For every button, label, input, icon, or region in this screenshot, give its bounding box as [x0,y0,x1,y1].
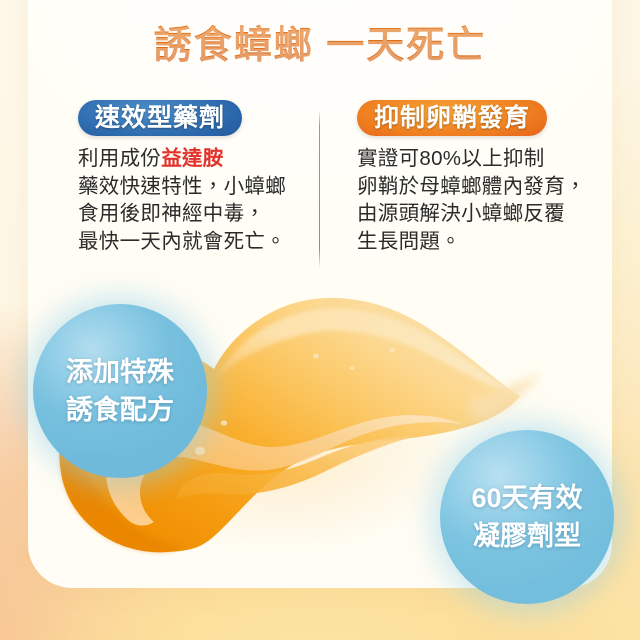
banner-stage: 誘食蟑螂 一天死亡 速效型藥劑 利用成份益達胺 藥效快速特性，小蟑螂 食用後即神… [0,0,640,640]
feature-copy-ootheca-inhibition: 實證可80%以上抑制 卵鞘於母蟑螂體內發育， 由源頭解決小蟑螂反覆 生長問題。 [357,145,640,255]
copy-line: 利用成份益達胺 [78,145,320,173]
feature-copy-fast-acting: 利用成份益達胺 藥效快速特性，小蟑螂 食用後即神經中毒， 最快一天內就會死亡。 [78,145,320,255]
copy-segment-highlight: 益達胺 [161,147,223,170]
bubble-bait-formula: 添加特殊 誘食配方 [33,304,207,478]
copy-line: 食用後即神經中毒， [78,200,320,228]
copy-line: 實證可80%以上抑制 [357,145,640,173]
feature-panel-ootheca-inhibition: 抑制卵鞘發育 實證可80%以上抑制 卵鞘於母蟑螂體內發育， 由源頭解決小蟑螂反覆… [320,100,640,280]
feature-panel-fast-acting: 速效型藥劑 利用成份益達胺 藥效快速特性，小蟑螂 食用後即神經中毒， 最快一天內… [0,100,320,280]
copy-line: 藥效快速特性，小蟑螂 [78,173,320,201]
bubble-line: 添加特殊 [66,353,174,391]
bubble-line: 誘食配方 [66,391,174,429]
badge-ootheca-inhibition: 抑制卵鞘發育 [357,100,547,136]
page-title: 誘食蟑螂 一天死亡 [0,14,640,69]
bubble-line: 凝膠劑型 [473,517,581,555]
copy-line: 由源頭解決小蟑螂反覆 [357,200,640,228]
bubble-line: 60天有效 [471,479,582,517]
copy-line: 卵鞘於母蟑螂體內發育， [357,173,640,201]
feature-panels: 速效型藥劑 利用成份益達胺 藥效快速特性，小蟑螂 食用後即神經中毒， 最快一天內… [0,100,640,280]
copy-line: 最快一天內就會死亡。 [78,228,320,256]
copy-segment: 利用成份 [78,147,161,170]
copy-line: 生長問題。 [357,228,640,256]
bubble-sixty-day-gel: 60天有效 凝膠劑型 [440,430,614,604]
badge-fast-acting: 速效型藥劑 [78,100,242,136]
